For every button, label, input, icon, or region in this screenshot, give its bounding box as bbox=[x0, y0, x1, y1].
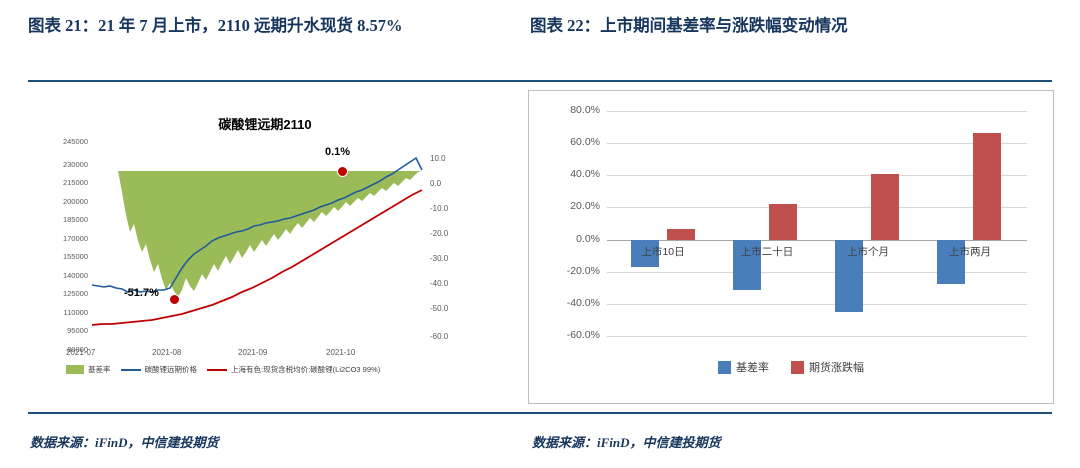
right-ytick-1: 0.0 bbox=[430, 179, 460, 188]
chart-left-plot-area: 0.1% -51.7% bbox=[92, 140, 424, 345]
chart-right-legend: 基差率 期货涨跌幅 bbox=[529, 359, 1053, 375]
category-label-2: 上市个月 bbox=[827, 244, 909, 259]
gridline-60 bbox=[607, 143, 1027, 144]
left-ytick-1: 95000 bbox=[30, 326, 88, 335]
left-xtick-2: 2021-09 bbox=[238, 348, 267, 357]
legend-line-forward-price-icon bbox=[121, 369, 141, 371]
legend-label-futures-change: 期货涨跌幅 bbox=[809, 359, 864, 375]
legend-swatch-futures-change-icon bbox=[791, 361, 804, 374]
right-ytick-4: -30.0 bbox=[430, 254, 460, 263]
page-root: 图表 21：21 年 7 月上市，2110 远期升水现货 8.57% 图表 22… bbox=[0, 0, 1080, 468]
legend-item-forward-price: 碳酸锂远期价格 bbox=[121, 364, 198, 375]
annotation-0-1-percent: 0.1% bbox=[325, 146, 350, 158]
left-ytick-5: 155000 bbox=[30, 252, 88, 261]
chart-basis-rate-vs-change: 80.0% 60.0% 40.0% 20.0% 0.0% -20.0% -40.… bbox=[528, 90, 1054, 404]
left-ytick-11: 245000 bbox=[30, 137, 88, 146]
figure-22-title: 图表 22：上市期间基差率与涨跌幅变动情况 bbox=[530, 14, 1050, 38]
right-chart-ytick-0: 80.0% bbox=[545, 104, 600, 116]
left-ytick-6: 170000 bbox=[30, 234, 88, 243]
chart-left-title: 碳酸锂远期2110 bbox=[30, 114, 500, 133]
left-ytick-3: 125000 bbox=[30, 289, 88, 298]
gridline-80 bbox=[607, 111, 1027, 112]
right-chart-ytick-4: 0.0% bbox=[545, 233, 600, 245]
right-chart-ytick-3: 20.0% bbox=[545, 200, 600, 212]
chart-left-svg bbox=[92, 140, 424, 345]
chart-lithium-forward-2110: 碳酸锂远期2110 0.1% -51.7% 80000 95000 110000… bbox=[30, 92, 500, 402]
right-chart-ytick-6: -40.0% bbox=[545, 297, 600, 309]
left-xtick-0: 2021-07 bbox=[66, 348, 95, 357]
legend-item-basis-rate: 基差率 bbox=[66, 364, 111, 375]
gridline-minus40 bbox=[607, 304, 1027, 305]
source-right: 数据来源：iFinD，中信建投期货 bbox=[532, 432, 721, 451]
category-label-0: 上市10日 bbox=[623, 244, 703, 259]
right-ytick-3: -20.0 bbox=[430, 229, 460, 238]
bar-change-4 bbox=[973, 133, 1001, 240]
chart-right-plot-area: 80.0% 60.0% 40.0% 20.0% 0.0% -20.0% -40.… bbox=[607, 111, 1027, 336]
source-left: 数据来源：iFinD，中信建投期货 bbox=[30, 432, 219, 451]
right-chart-ytick-2: 40.0% bbox=[545, 168, 600, 180]
right-ytick-5: -40.0 bbox=[430, 279, 460, 288]
left-xtick-3: 2021-10 bbox=[326, 348, 355, 357]
marker-point-minus51-7 bbox=[169, 294, 180, 305]
legend-label-spot-price: 上海有色:现货含税均价:碳酸锂(Li2CO3 99%) bbox=[231, 364, 380, 375]
right-ytick-0: 10.0 bbox=[430, 154, 460, 163]
bar-change-1 bbox=[667, 229, 695, 240]
divider-top bbox=[28, 80, 1052, 82]
figure-21-title: 图表 21：21 年 7 月上市，2110 远期升水现货 8.57% bbox=[28, 14, 518, 38]
left-ytick-9: 215000 bbox=[30, 178, 88, 187]
legend-item-basis-rate-right: 基差率 bbox=[718, 359, 769, 375]
annotation-minus-51-7-percent: -51.7% bbox=[124, 287, 159, 299]
marker-point-01 bbox=[337, 166, 348, 177]
gridline-minus60 bbox=[607, 336, 1027, 337]
legend-item-futures-change: 期货涨跌幅 bbox=[791, 359, 864, 375]
bar-change-3 bbox=[871, 174, 899, 240]
bar-change-2 bbox=[769, 204, 797, 240]
legend-item-spot-price: 上海有色:现货含税均价:碳酸锂(Li2CO3 99%) bbox=[207, 364, 380, 375]
right-ytick-2: -10.0 bbox=[430, 204, 460, 213]
left-ytick-4: 140000 bbox=[30, 271, 88, 280]
gridline-40 bbox=[607, 175, 1027, 176]
right-chart-ytick-1: 60.0% bbox=[545, 136, 600, 148]
left-xtick-1: 2021-08 bbox=[152, 348, 181, 357]
area-basis-rate bbox=[92, 171, 424, 297]
gridline-20 bbox=[607, 207, 1027, 208]
legend-swatch-basis-rate-icon bbox=[66, 365, 84, 374]
legend-label-basis-rate-right: 基差率 bbox=[736, 359, 769, 375]
right-ytick-6: -50.0 bbox=[430, 304, 460, 313]
category-label-1: 上市二十日 bbox=[720, 244, 814, 259]
right-chart-ytick-7: -60.0% bbox=[545, 329, 600, 341]
legend-label-forward-price: 碳酸锂远期价格 bbox=[145, 364, 198, 375]
left-ytick-8: 200000 bbox=[30, 197, 88, 206]
left-ytick-10: 230000 bbox=[30, 160, 88, 169]
legend-swatch-basis-rate-icon bbox=[718, 361, 731, 374]
chart-left-legend: 基差率 碳酸锂远期价格 上海有色:现货含税均价:碳酸锂(Li2CO3 99%) bbox=[66, 364, 496, 375]
legend-line-spot-price-icon bbox=[207, 369, 227, 371]
divider-bottom bbox=[28, 412, 1052, 414]
legend-label-basis-rate: 基差率 bbox=[88, 364, 111, 375]
category-label-3: 上市两月 bbox=[929, 244, 1011, 259]
right-ytick-7: -60.0 bbox=[430, 332, 460, 341]
left-ytick-7: 185000 bbox=[30, 215, 88, 224]
left-ytick-2: 110000 bbox=[30, 308, 88, 317]
right-chart-ytick-5: -20.0% bbox=[545, 265, 600, 277]
